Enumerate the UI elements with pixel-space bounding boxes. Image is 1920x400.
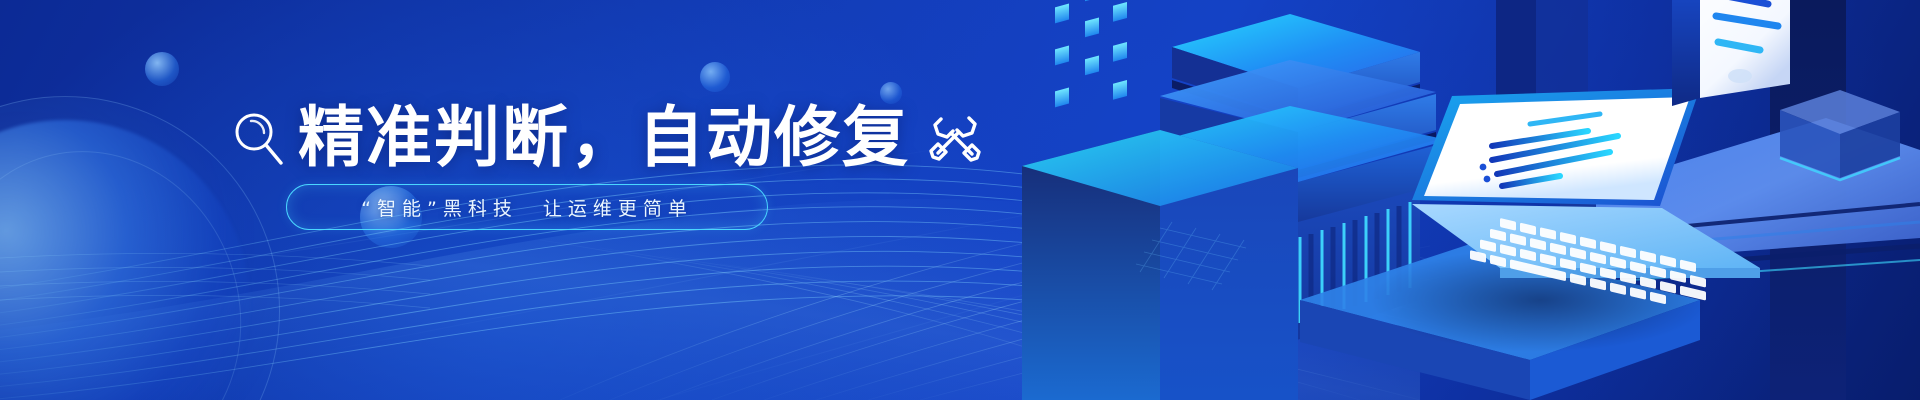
bokeh-circle [145,52,179,86]
bokeh-circle [1390,300,1402,312]
laptop-base [1412,204,1760,268]
office-tower [1022,0,1448,400]
platform-slab-stack [1560,118,1920,284]
headline-block: 精准判断，自动修复 [230,95,930,181]
keyboard-keys [1470,211,1706,313]
subtitle-text: “智能”黑科技 让运维更简单 [361,194,693,221]
perspective-grid [1136,222,1246,290]
card-face [1700,0,1790,98]
illustration-group [1022,0,1920,400]
hero-banner: 精准判断，自动修复 “智能”黑科技 让运维更简单 [0,0,1920,400]
server-rack [1260,180,1420,352]
laptop-lid [1412,88,1700,206]
floating-document-card [1672,0,1790,106]
card-edge [1672,0,1700,106]
glow-sphere [0,120,250,400]
tower-windows [1055,0,1127,107]
base-platform [1300,244,1700,400]
background-column [1770,0,1846,400]
background-column [1536,0,1588,96]
subtitle-pill: “智能”黑科技 让运维更简单 [286,184,768,230]
background-column [1496,0,1536,120]
accent-cube [1780,90,1900,180]
laptop [1370,88,1760,352]
bokeh-circle [700,62,730,92]
card-text-lines [1716,0,1778,50]
crossed-wrench-icon [924,107,986,169]
laptop-shadow [1370,248,1710,352]
light-streak [535,225,1266,400]
laptop-screen [1424,97,1690,200]
screen-content [1480,114,1618,186]
card-home-button [1728,69,1752,83]
page-title: 精准判断，自动修复 [298,105,910,171]
magnifier-icon [230,108,284,168]
